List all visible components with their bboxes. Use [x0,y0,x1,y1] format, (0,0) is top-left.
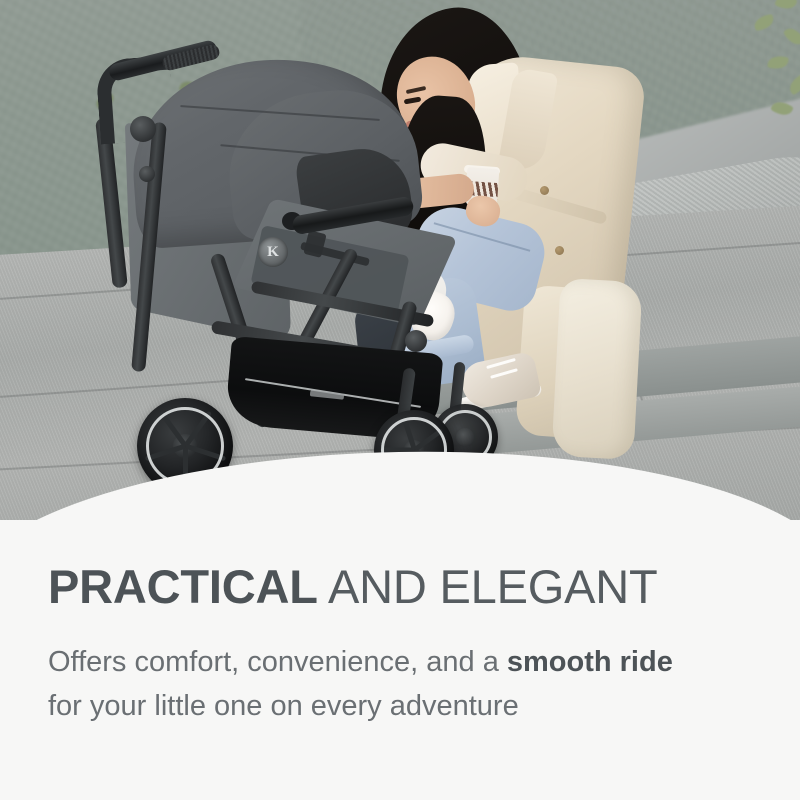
headline-bold-part: PRACTICAL [48,560,318,613]
stroller: K [0,0,800,525]
frame-hinge [130,116,156,142]
wheel-hub [456,428,474,446]
subtitle-part-2: for your little one on every adventure [48,690,519,722]
subtitle-bold-part: smooth ride [507,646,673,678]
stroller-brand-medallion: K [258,237,288,267]
frame-hinge [405,330,427,352]
hero-photo: K [0,0,800,525]
promo-poster: K [0,0,800,800]
frame-hinge [139,166,155,182]
headline-light-part: AND ELEGANT [318,560,658,613]
page-subtitle: Offers comfort, convenience, and a smoot… [48,640,708,728]
wheel-hub [173,434,197,458]
page-title: PRACTICAL AND ELEGANT [48,560,748,614]
text-block: PRACTICAL AND ELEGANT Offers comfort, co… [48,560,748,728]
subtitle-part-1: Offers comfort, convenience, and a [48,646,507,678]
